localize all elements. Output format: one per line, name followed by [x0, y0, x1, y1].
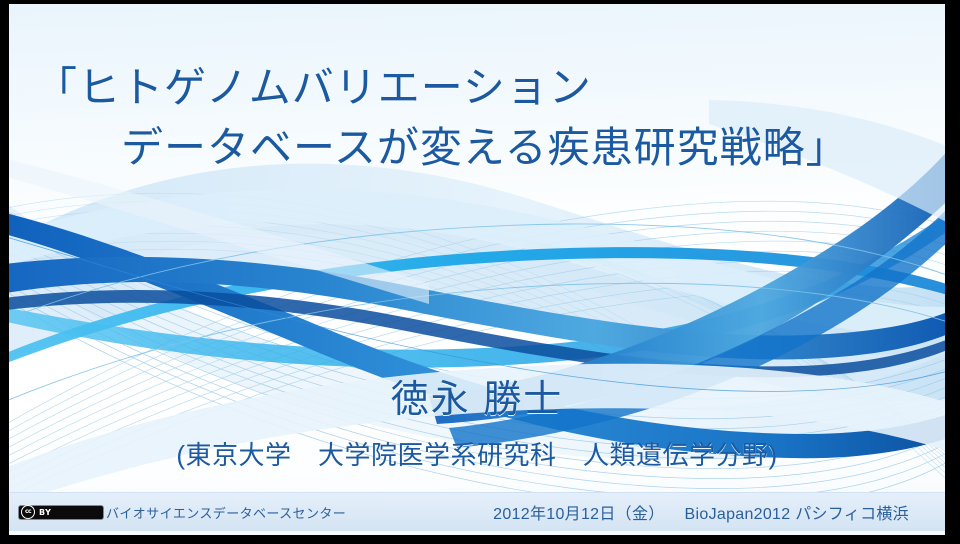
presenter-affiliation: (東京大学 大学院医学系研究科 人類遺伝学分野)	[9, 438, 945, 472]
screen-letterbox: 「ヒトゲノムバリエーション データベースが変える疾患研究戦略」 徳永 勝士 (東…	[0, 0, 960, 544]
title-line-2: データベースが変える疾患研究戦略」	[9, 118, 945, 178]
footer-organization: バイオサイエンスデータベースセンター	[106, 503, 346, 522]
slide-footer: cc BY バイオサイエンスデータベースセンター 2012年10月12日（金） …	[9, 492, 945, 531]
footer-date: 2012年10月12日（金）	[493, 500, 664, 524]
title-line-1: 「ヒトゲノムバリエーション	[9, 58, 945, 118]
creative-commons-icon: cc BY	[18, 505, 104, 520]
cc-mark-label: cc	[21, 505, 35, 519]
cc-by-label: BY	[39, 508, 51, 517]
footer-left-group: cc BY バイオサイエンスデータベースセンター	[9, 503, 346, 522]
footer-right-group: 2012年10月12日（金） BioJapan2012 パシフィコ横浜	[493, 500, 945, 524]
presentation-slide: 「ヒトゲノムバリエーション データベースが変える疾患研究戦略」 徳永 勝士 (東…	[9, 4, 945, 535]
presenter-block: 徳永 勝士 (東京大学 大学院医学系研究科 人類遺伝学分野)	[9, 376, 945, 472]
slide-title: 「ヒトゲノムバリエーション データベースが変える疾患研究戦略」	[9, 58, 945, 178]
footer-event: BioJapan2012 パシフィコ横浜	[685, 500, 909, 524]
presenter-name: 徳永 勝士	[9, 376, 945, 424]
